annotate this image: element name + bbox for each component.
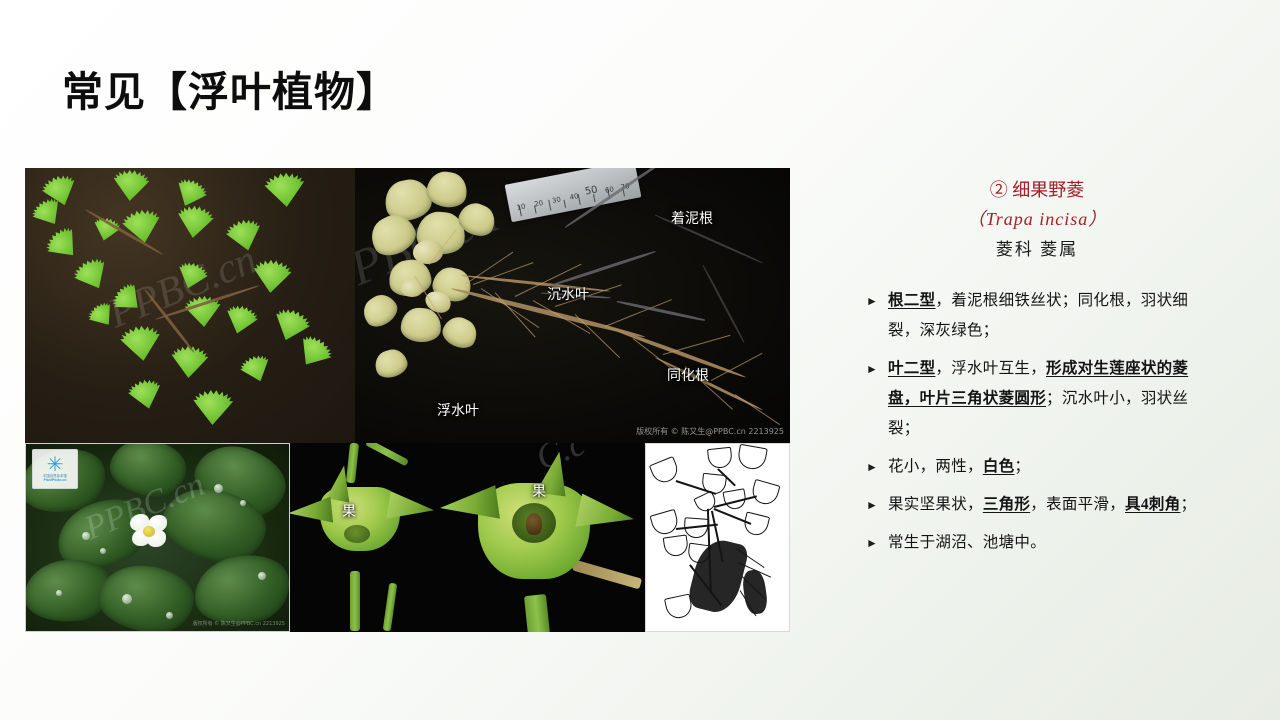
flower-head <box>130 514 168 548</box>
label-submerged-leaf: 沉水叶 <box>547 284 589 304</box>
feature-item-text: 根二型，着泥根细铁丝状；同化根，羽状细裂，深灰绿色； <box>888 286 1212 346</box>
photo-fruit-b[interactable]: C.c 果 <box>440 443 645 632</box>
photo-fruit-a[interactable]: 果 <box>290 443 440 632</box>
feature-item-text: 果实坚果状，三角形，表面平滑，具4刺角； <box>888 490 1212 520</box>
photo-flower-closeup[interactable]: PPBC.cn ✳ 中国自然标本馆 PlantPhoto.cn 版权所有 © 陈… <box>25 443 290 632</box>
feature-item: ►常生于湖沼、池塘中。 <box>862 528 1212 558</box>
label-fruit-a: 果 <box>342 501 356 521</box>
label-fruit-b: 果 <box>532 481 546 501</box>
photo-floating-rosette[interactable]: PPBC.cn <box>25 168 355 443</box>
photo-line-drawing[interactable] <box>645 443 790 632</box>
ruler-tick-10: 10 <box>516 202 526 212</box>
photo-copyright: 版权所有 © 陈又生@PPBC.cn 2213925 <box>193 620 285 627</box>
label-floating-leaf: 浮水叶 <box>437 400 479 420</box>
ruler-tick-50: 50 <box>584 184 599 197</box>
ruler: 10 20 30 40 50 60 70 <box>505 168 642 222</box>
photo-roots-and-ruler[interactable]: PPBC.cn 10 20 30 40 50 60 70 <box>355 168 790 443</box>
label-assimilating-root: 同化根 <box>667 365 709 385</box>
logo-en-text: PlantPhoto.cn <box>44 478 67 482</box>
feature-item-text: 花小，两性，白色； <box>888 452 1212 482</box>
bullet-triangle-icon: ► <box>862 452 888 482</box>
bullet-triangle-icon: ► <box>862 286 888 316</box>
feature-item-text: 叶二型，浮水叶互生，形成对生莲座状的菱盘，叶片三角状菱圆形；沉水叶小，羽状丝裂； <box>888 354 1212 444</box>
species-number-and-name: ② 细果野菱 <box>862 176 1212 204</box>
species-info-panel: ② 细果野菱 （Trapa incisa） 菱科 菱属 ►根二型，着泥根细铁丝状… <box>862 176 1212 566</box>
ruler-tick-40: 40 <box>569 192 579 202</box>
ruler-tick-30: 30 <box>551 196 561 206</box>
flower-center <box>143 526 155 537</box>
bullet-triangle-icon: ► <box>862 528 888 558</box>
bullet-triangle-icon: ► <box>862 490 888 520</box>
label-mud-root: 着泥根 <box>671 208 713 228</box>
feature-item: ►花小，两性，白色； <box>862 452 1212 482</box>
species-family-genus: 菱科 菱属 <box>862 234 1212 266</box>
feature-item: ►根二型，着泥根细铁丝状；同化根，羽状细裂，深灰绿色； <box>862 286 1212 346</box>
image-collage: PPBC.cn PPBC.cn <box>25 168 790 632</box>
feature-item-text: 常生于湖沼、池塘中。 <box>888 528 1212 558</box>
feature-list: ►根二型，着泥根细铁丝状；同化根，羽状细裂，深灰绿色；►叶二型，浮水叶互生，形成… <box>862 286 1212 558</box>
feature-item: ►叶二型，浮水叶互生，形成对生莲座状的菱盘，叶片三角状菱圆形；沉水叶小，羽状丝裂… <box>862 354 1212 444</box>
feature-item: ►果实坚果状，三角形，表面平滑，具4刺角； <box>862 490 1212 520</box>
ppbc-logo: ✳ 中国自然标本馆 PlantPhoto.cn <box>32 449 78 489</box>
species-latin-name: （Trapa incisa） <box>862 204 1212 234</box>
page-title: 常见【浮叶植物】 <box>62 58 398 118</box>
snowflake-icon: ✳ <box>47 456 64 474</box>
photo-copyright: 版权所有 © 陈又生@PPBC.cn 2213925 <box>636 426 784 437</box>
ruler-tick-20: 20 <box>534 199 544 209</box>
bullet-triangle-icon: ► <box>862 354 888 384</box>
